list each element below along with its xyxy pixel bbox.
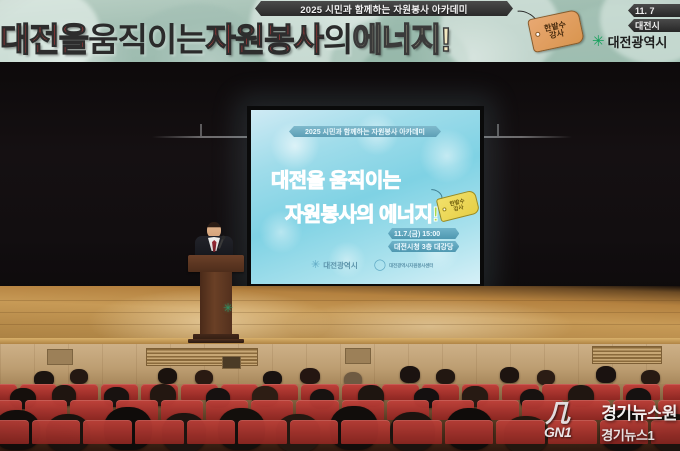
- wall-vent-left: [146, 348, 258, 366]
- podium: ✳: [188, 255, 244, 343]
- slide-line2-seg-2: 의: [356, 204, 379, 226]
- gn1-logo-icon: 几 GN1: [541, 401, 596, 441]
- slide-tag-hole-icon: [442, 207, 447, 212]
- tag-hole-icon: [535, 31, 541, 37]
- daejeon-emblem-icon: ✳: [222, 302, 234, 314]
- audience-head: [70, 369, 88, 384]
- slide-logo-row: ✳ 대전광역시 ◯ 대전광역시자원봉사센터: [311, 260, 433, 271]
- daejeon-emblem-icon: ✳: [592, 34, 605, 49]
- banner-place-text: 대전시: [635, 19, 660, 32]
- slide-place-text: 대전시청 3층 대강당: [394, 242, 453, 252]
- tag-line-2: 강사: [549, 29, 565, 40]
- slide-line1-seg-2: 을 움직이는: [307, 170, 401, 192]
- seat: [135, 420, 184, 444]
- seat: [445, 420, 494, 444]
- banner-city-logo: ✳ 대전광역시: [592, 32, 667, 51]
- slide-tag-body: 한밭수 강사: [436, 190, 480, 223]
- slide-subtitle-ribbon: 2025 시민과 함께하는 자원봉사 아카데미: [289, 126, 441, 137]
- watermark-name-main: 경기뉴스원: [601, 399, 677, 424]
- audience-head: [436, 369, 455, 384]
- slide-place-chip: 대전시청 3층 대강당: [388, 241, 459, 252]
- seat: [32, 420, 81, 444]
- seat: [393, 420, 442, 444]
- slide-event-info: 11.7.(금) 15:00 대전시청 3층 대강당: [388, 228, 459, 252]
- slide-headline-line-1: 대전을 움직이는: [271, 164, 401, 193]
- banner-headline-seg-5: 에너지!: [352, 13, 450, 61]
- tag-body: 한밭수 강사: [527, 9, 585, 53]
- floor-plank-1: [0, 300, 680, 301]
- seat: [187, 420, 236, 444]
- slide-logo-2-label: 대전광역시자원봉사센터: [389, 263, 433, 269]
- audience-head: [596, 366, 616, 383]
- slide-logo-daejeon: ✳ 대전광역시: [311, 260, 358, 271]
- floor-plank-2: [0, 312, 680, 313]
- truss-drop-4: [497, 124, 499, 136]
- slide-tag-line-2: 강사: [453, 205, 464, 213]
- watermark-name-sub: 경기뉴스1: [601, 425, 677, 444]
- stage-banner: 2025 시민과 함께하는 자원봉사 아카데미 대전을 움직이는 자원봉사 의 …: [0, 0, 680, 62]
- projection-screen: 2025 시민과 함께하는 자원봉사 아카데미 대전을 움직이는 자원봉사의 에…: [251, 110, 480, 284]
- banner-headline-seg-4: 의: [323, 13, 352, 61]
- floor-plank-3: [0, 324, 680, 325]
- projection-screen-frame: 2025 시민과 함께하는 자원봉사 아카데미 대전을 움직이는 자원봉사의 에…: [247, 106, 484, 288]
- wall-panel-box-left: [47, 349, 73, 365]
- audience-head: [300, 368, 320, 384]
- banner-headline-seg-1: 대전을: [0, 13, 88, 61]
- podium-column: ✳: [200, 272, 232, 334]
- slide-logo-volunteer-center: ◯ 대전광역시자원봉사센터: [374, 260, 434, 271]
- audience-head: [158, 368, 177, 384]
- banner-headline-seg-3: 자원봉사: [206, 13, 323, 61]
- wall-panel-box-center: [222, 356, 241, 369]
- banner-city-label: 대전광역시: [608, 32, 668, 51]
- press-watermark: 几 GN1 경기뉴스원 경기뉴스1: [541, 399, 677, 443]
- truss-drop-1: [200, 124, 202, 136]
- banner-price-tag: 한밭수 강사: [512, 6, 584, 54]
- rear-wall-panel: [0, 344, 680, 384]
- seat: [83, 420, 132, 444]
- stage-floor: [0, 286, 680, 344]
- audience-head: [195, 370, 213, 385]
- slide-line1-seg-1: 대전: [271, 170, 307, 192]
- seat: [0, 420, 29, 444]
- seat: [238, 420, 287, 444]
- wall-panel-box-right: [345, 348, 371, 364]
- seat: [341, 420, 390, 444]
- audience-head: [500, 367, 519, 383]
- slide-date-text: 11.7.(금) 15:00: [394, 229, 440, 239]
- slide-logo-1-label: 대전광역시: [323, 260, 358, 271]
- banner-date-chip: 11. 7: [628, 4, 680, 17]
- seat: [290, 420, 339, 444]
- banner-place-chip: 대전시: [628, 19, 680, 32]
- audience-head: [537, 370, 555, 385]
- podium-top: [188, 255, 244, 272]
- banner-date-text: 11. 7: [635, 6, 655, 16]
- slide-price-tag: 한밭수 강사: [427, 188, 480, 222]
- podium-plinth: [188, 339, 244, 343]
- audience-head: [400, 366, 420, 383]
- daejeon-emblem-icon: ✳: [311, 260, 320, 271]
- circle-emblem-icon: ◯: [374, 260, 386, 271]
- seat: [496, 420, 545, 444]
- banner-headline-seg-2: 움직이는: [88, 13, 205, 61]
- slide-line2-seg-1: 자원봉사: [285, 204, 356, 226]
- slide-subtitle-text: 2025 시민과 함께하는 자원봉사 아카데미: [305, 127, 425, 137]
- gn1-logo-mark: 几: [545, 402, 593, 426]
- banner-right-info: 11. 7 대전시 ✳ 대전광역시: [628, 4, 680, 32]
- banner-headline: 대전을 움직이는 자원봉사 의 에너지!: [0, 14, 540, 60]
- auditorium-photo: 2025 시민과 함께하는 자원봉사 아카데미 대전을 움직이는 자원봉사 의 …: [0, 0, 680, 451]
- audience-head: [641, 370, 660, 385]
- slide-date-chip: 11.7.(금) 15:00: [388, 228, 459, 239]
- slide-headline-line-2: 자원봉사의 에너지!: [285, 198, 438, 227]
- gn1-logo-text: GN1: [544, 424, 596, 440]
- wall-vent-right: [592, 346, 662, 364]
- watermark-text-block: 경기뉴스원 경기뉴스1: [601, 399, 677, 444]
